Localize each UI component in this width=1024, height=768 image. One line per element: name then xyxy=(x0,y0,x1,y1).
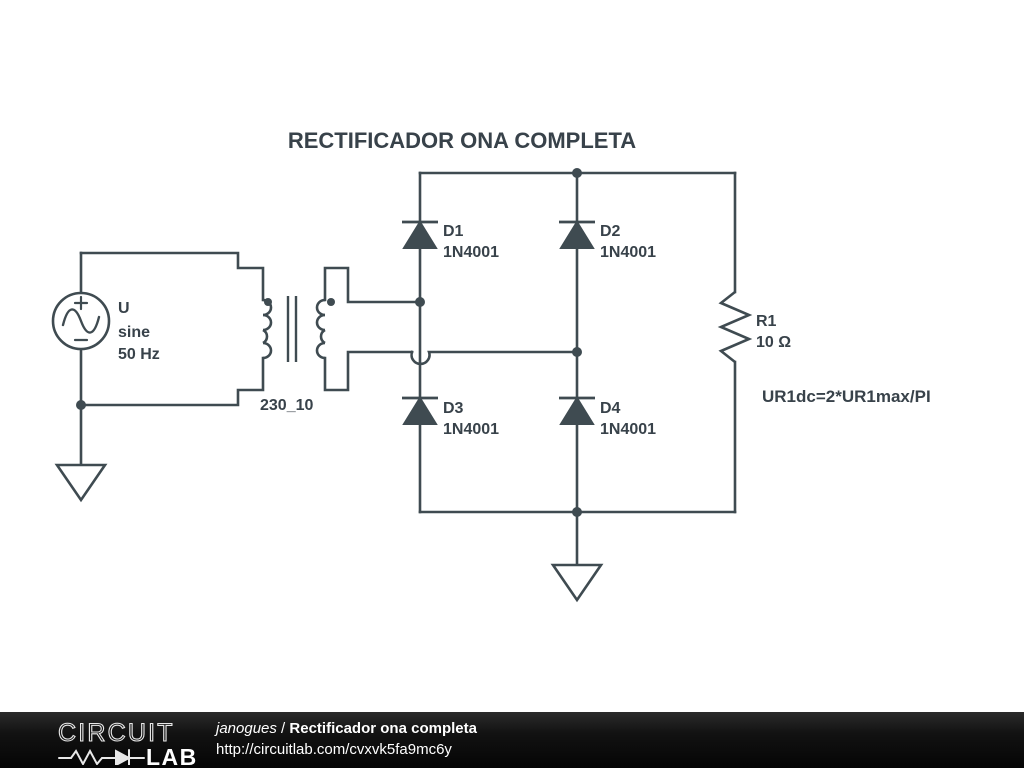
transformer-core xyxy=(288,296,296,362)
junction-dot-bridge-top xyxy=(572,168,582,178)
junction-dot-bridge-mid xyxy=(572,347,582,357)
polarity-dot-secondary xyxy=(327,298,335,306)
junction-dot-bridge-bottom xyxy=(572,507,582,517)
transformer-secondary-coil xyxy=(317,300,325,358)
circuitlab-logo[interactable]: CIRCUIT LAB xyxy=(58,717,208,765)
transformer-primary-coil xyxy=(263,300,271,358)
diode-d4-ref-label: D4 xyxy=(600,400,621,417)
diode-d4[interactable] xyxy=(559,398,595,424)
wire-group xyxy=(81,173,735,565)
diode-d3[interactable] xyxy=(402,398,438,424)
diode-body-triangle xyxy=(404,398,436,424)
ground-symbol-output xyxy=(553,565,601,600)
diode-d1[interactable] xyxy=(402,222,438,248)
diode-d2[interactable] xyxy=(559,222,595,248)
resistor-r1[interactable] xyxy=(721,292,749,362)
resistor-ref-label: R1 xyxy=(756,313,777,330)
ac-voltage-source[interactable] xyxy=(53,293,109,349)
wire-secondary-bottom xyxy=(325,352,412,390)
ground-triangle xyxy=(57,465,105,500)
formula-annotation: UR1dc=2*UR1max/PI xyxy=(762,387,931,406)
transformer[interactable] xyxy=(263,296,335,362)
diode-d1-ref-label: D1 xyxy=(443,223,464,240)
diode-d3-ref-label: D3 xyxy=(443,400,464,417)
diode-body-triangle xyxy=(561,398,593,424)
logo-resistor-diode-icon xyxy=(59,750,144,765)
diode-d2-ref-label: D2 xyxy=(600,223,621,240)
diode-body-triangle xyxy=(561,222,593,248)
source-type-label: sine xyxy=(118,324,150,341)
diode-body-triangle xyxy=(404,222,436,248)
schematic-canvas[interactable]: RECTIFICADOR ONA COMPLETA xyxy=(0,0,1024,712)
logo-word-lab: LAB xyxy=(146,744,198,765)
footer-credit-line: janogues / Rectificador ona completa xyxy=(216,718,477,739)
footer-separator: / xyxy=(277,720,290,737)
resistor-zigzag xyxy=(721,292,749,362)
logo-word-circuit: CIRCUIT xyxy=(58,719,175,747)
diode-d3-part-label: 1N4001 xyxy=(443,421,499,438)
footer-bar: CIRCUIT LAB janogues / Rectificador ona … xyxy=(0,712,1024,768)
footer-circuit-title: Rectificador ona completa xyxy=(289,720,477,737)
ground-triangle xyxy=(553,565,601,600)
diode-d1-part-label: 1N4001 xyxy=(443,244,499,261)
source-name-label: U xyxy=(118,300,130,317)
polarity-dot-primary xyxy=(264,298,272,306)
diode-d4-part-label: 1N4001 xyxy=(600,421,656,438)
junction-dot-source-ground xyxy=(76,400,86,410)
page-title: RECTIFICADOR ONA COMPLETA xyxy=(288,128,636,153)
wire-secondary-top xyxy=(325,268,420,302)
footer-url[interactable]: http://circuitlab.com/cvxvk5fa9mc6y xyxy=(216,739,477,760)
wire-primary-top xyxy=(81,253,263,300)
diode-d2-part-label: 1N4001 xyxy=(600,244,656,261)
junction-dot-group xyxy=(76,168,582,517)
wire-hop-crossover xyxy=(412,352,577,364)
footer-text-block: janogues / Rectificador ona completa htt… xyxy=(216,718,477,760)
source-frequency-label: 50 Hz xyxy=(118,346,160,363)
ground-symbol-source xyxy=(57,465,105,500)
footer-username[interactable]: janogues xyxy=(216,720,277,737)
wire-primary-bottom xyxy=(81,358,263,405)
transformer-label: 230_10 xyxy=(260,397,313,414)
resistor-value-label: 10 Ω xyxy=(756,334,791,351)
junction-dot-bridge-left xyxy=(415,297,425,307)
circuit-schematic[interactable]: RECTIFICADOR ONA COMPLETA xyxy=(0,0,1024,712)
